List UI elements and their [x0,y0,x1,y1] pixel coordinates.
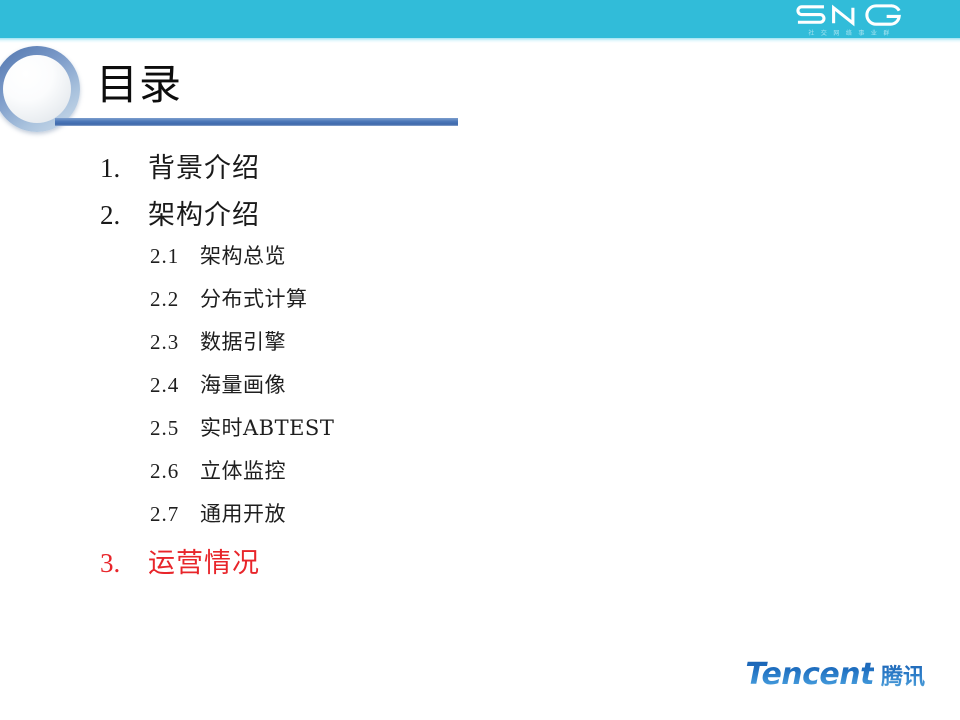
toc-item-label: 运营情况 [148,541,260,580]
presentation-slide: 社 交 网 络 事 业 群 目录 1.背景介绍2.架构介绍2.1架构总览2.2分… [0,0,960,720]
toc-item[interactable]: 2.2分布式计算 [0,283,600,326]
toc-item[interactable]: 2.7通用开放 [0,498,600,541]
toc-item[interactable]: 1.背景介绍 [0,146,600,193]
toc-item-label: 架构总览 [200,240,286,270]
toc-item-label: 架构介绍 [148,193,260,232]
sng-subtitle: 社 交 网 络 事 业 群 [808,30,891,38]
toc-item-number: 3. [100,548,148,579]
title-underline-bar [55,118,458,126]
toc-item[interactable]: 2.3数据引擎 [0,326,600,369]
toc-item-number: 2.6 [150,459,200,484]
toc-item-number: 2.1 [150,244,200,269]
toc-item-label: 通用开放 [200,498,286,528]
toc-item-label: 实时ABTEST [200,412,334,442]
toc-item-label: 海量画像 [200,369,286,399]
tencent-wordmark: Tencent [745,657,874,692]
toc-item-number: 2.2 [150,287,200,312]
toc-item[interactable]: 3.运营情况 [0,541,600,588]
toc-item[interactable]: 2.6立体监控 [0,455,600,498]
tencent-logo: Tencent 腾讯 [745,657,925,692]
toc-item-number: 2.3 [150,330,200,355]
toc-item-number: 2.5 [150,416,200,441]
toc-item[interactable]: 2.1架构总览 [0,240,600,283]
top-banner-fade [0,38,960,43]
toc-item-number: 2.7 [150,502,200,527]
toc-item-label: 分布式计算 [200,283,308,313]
toc-item[interactable]: 2.5实时ABTEST [0,412,600,455]
toc-item-number: 2.4 [150,373,200,398]
toc-item-number: 2. [100,200,148,231]
sng-logo: 社 交 网 络 事 业 群 [784,2,916,38]
sng-wordmark-icon [791,2,909,29]
table-of-contents: 1.背景介绍2.架构介绍2.1架构总览2.2分布式计算2.3数据引擎2.4海量画… [0,146,600,588]
toc-item[interactable]: 2.架构介绍 [0,193,600,240]
toc-item[interactable]: 2.4海量画像 [0,369,600,412]
page-title: 目录 [96,62,182,108]
tencent-wordmark-cn: 腾讯 [881,659,925,691]
toc-item-label: 立体监控 [200,455,286,485]
toc-item-label: 背景介绍 [148,146,260,185]
toc-item-label: 数据引擎 [200,326,286,356]
toc-item-number: 1. [100,153,148,184]
